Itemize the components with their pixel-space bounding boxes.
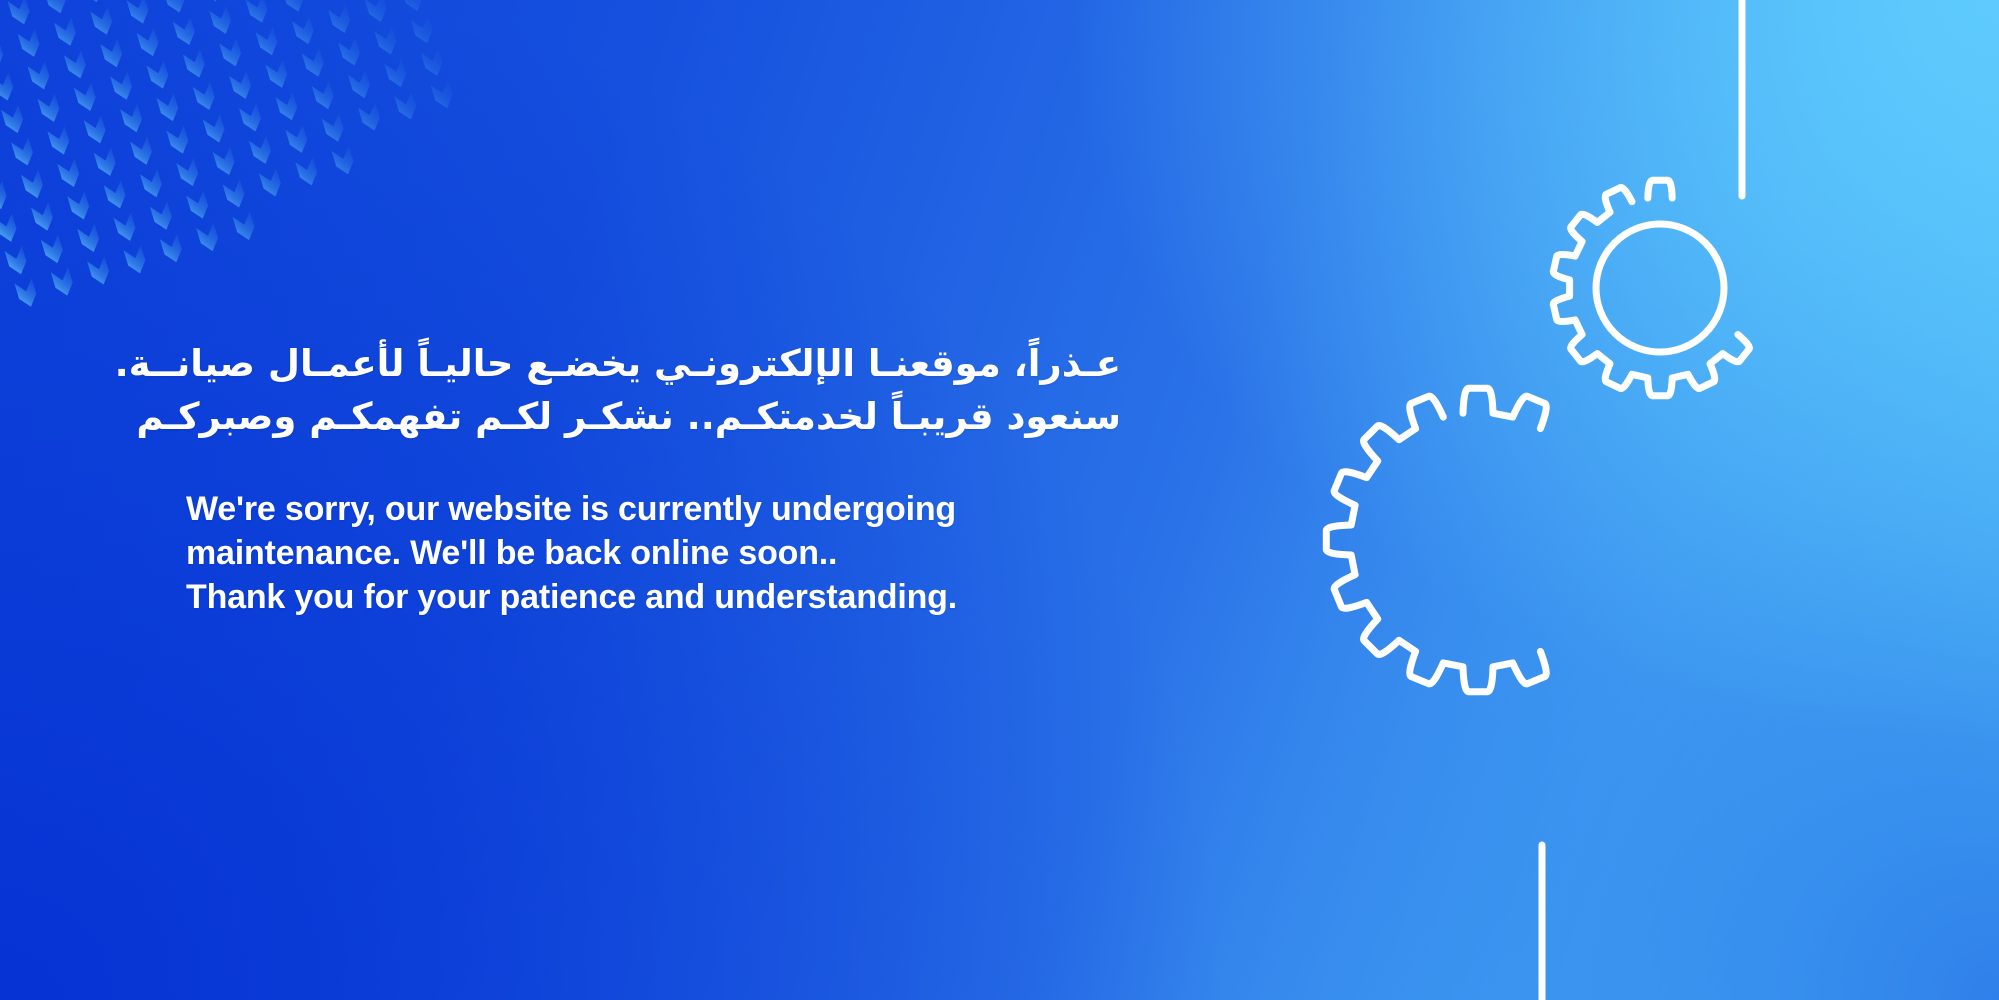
arabic-line-1: عـذراً، موقعنـا الإلكترونـي يخضـع حاليـا…	[186, 338, 1121, 391]
gear-graphic	[1239, 0, 1999, 1000]
large-gear-outline	[1326, 388, 1546, 691]
arabic-line-2: سنعود قريبـاً لخدمتكـم.. نشكـر لكـم تفهم…	[186, 391, 1121, 444]
maintenance-page: عـذراً، موقعنـا الإلكترونـي يخضـع حاليـا…	[0, 0, 1999, 1000]
message-block: عـذراً، موقعنـا الإلكترونـي يخضـع حاليـا…	[186, 338, 1186, 620]
english-line-3: Thank you for your patience and understa…	[186, 575, 1186, 619]
english-message: We're sorry, our website is currently un…	[186, 487, 1186, 620]
small-gear-outline	[1553, 180, 1749, 395]
chevron-pattern	[0, 0, 530, 360]
small-gear-inner-circle	[1596, 224, 1724, 352]
english-line-1: We're sorry, our website is currently un…	[186, 487, 1186, 531]
message-spacer	[186, 443, 1186, 487]
english-line-2: maintenance. We'll be back online soon..	[186, 531, 1186, 575]
arabic-message: عـذراً، موقعنـا الإلكترونـي يخضـع حاليـا…	[186, 338, 1121, 443]
